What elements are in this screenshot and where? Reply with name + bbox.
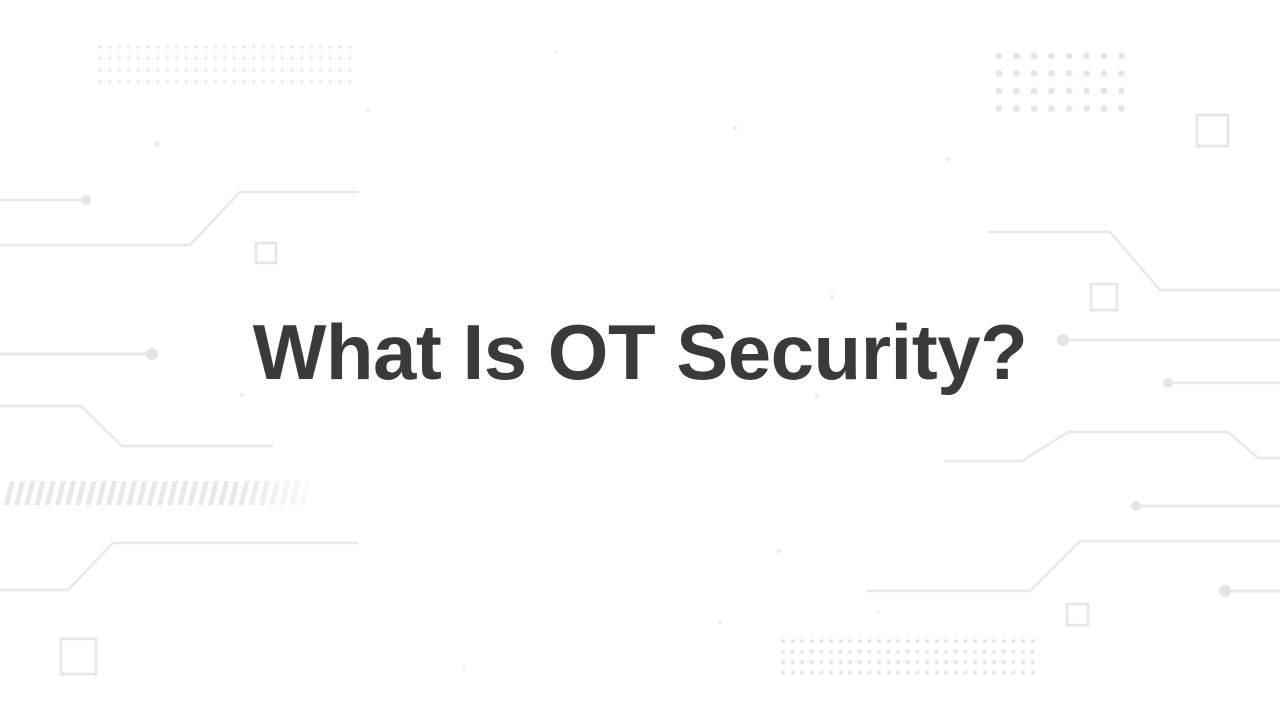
- page-title: What Is OT Security?: [253, 313, 1027, 391]
- title-layer: What Is OT Security?: [0, 0, 1280, 720]
- slide-canvas: What Is OT Security?: [0, 0, 1280, 720]
